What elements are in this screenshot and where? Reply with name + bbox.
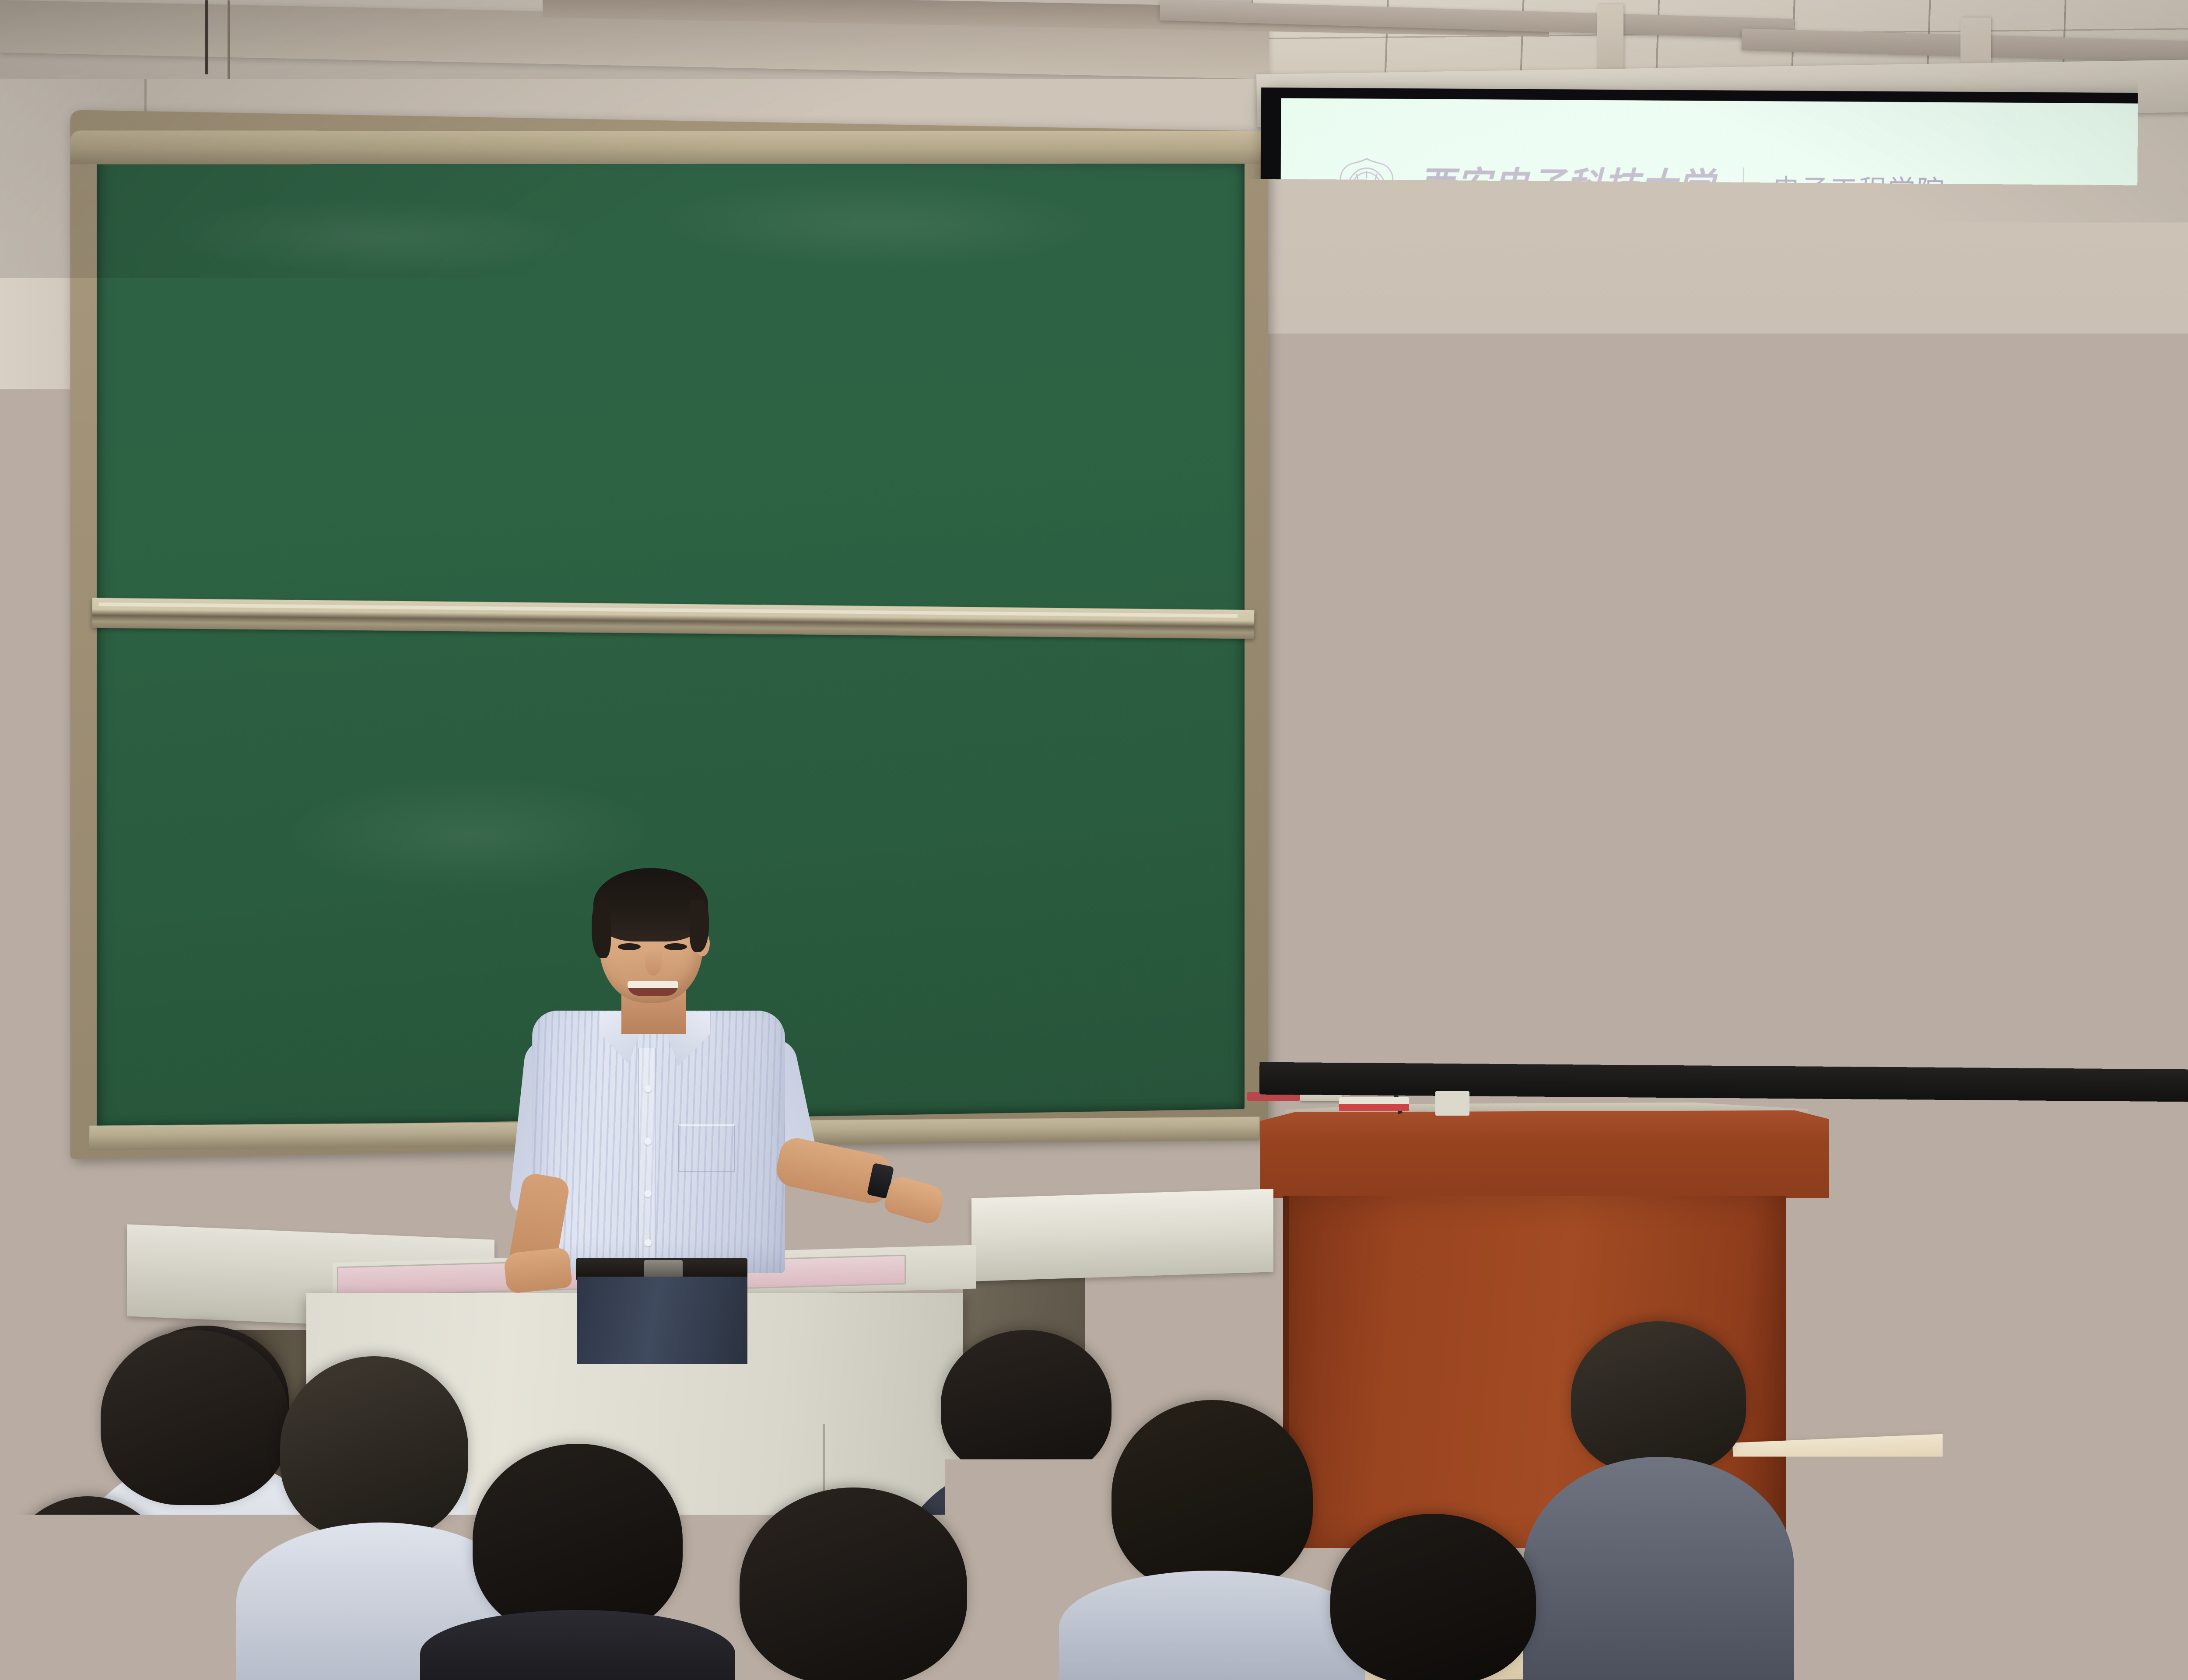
chalk-smudge bbox=[168, 195, 586, 277]
logo-divider bbox=[1743, 168, 1744, 233]
audience-head bbox=[1925, 1549, 2135, 1680]
presenter-mouth bbox=[628, 981, 678, 996]
slide-decorative-bars bbox=[1308, 680, 1496, 832]
ceiling-conduit bbox=[205, 0, 208, 74]
lectern-top bbox=[1260, 1110, 1829, 1198]
shirt-button bbox=[644, 1239, 652, 1246]
presenter-teeth bbox=[628, 981, 678, 988]
audience-head bbox=[1737, 1501, 1947, 1680]
audience-head bbox=[101, 1330, 289, 1505]
belt-buckle bbox=[644, 1260, 683, 1278]
presenter bbox=[490, 857, 967, 1295]
school-name-block: 电子工程学院 School of Electronic Engineering bbox=[1772, 176, 1960, 226]
chalk-smudge bbox=[655, 176, 1104, 271]
bottle-cap bbox=[1427, 1498, 1462, 1511]
decor-bar bbox=[1308, 745, 1485, 767]
audience-head bbox=[0, 1496, 175, 1680]
presenter-eye bbox=[618, 943, 641, 950]
presenter-trousers bbox=[577, 1277, 747, 1364]
audience-head bbox=[1112, 1400, 1313, 1592]
slide-date: 2017年5月26日 bbox=[1690, 778, 1985, 841]
xidian-university-crest-icon bbox=[1329, 156, 1404, 238]
shirt-placket bbox=[638, 1048, 656, 1267]
classroom-photo: ThreeStars bbox=[0, 0, 2188, 1680]
slide-logo-row: 西安电子科技大学 XIDIAN UNIVERSITY 电子工程学院 School… bbox=[1329, 156, 1960, 243]
shirt-button bbox=[644, 1137, 652, 1145]
audience-head bbox=[1571, 1321, 1746, 1474]
slide-light-streak bbox=[2178, 254, 2188, 279]
shirt-pocket bbox=[678, 1124, 735, 1172]
presenter-shirt bbox=[532, 1011, 785, 1273]
audience-head bbox=[280, 1356, 468, 1540]
decor-bar bbox=[1308, 680, 1475, 702]
presenter-hair-side bbox=[592, 901, 611, 958]
decor-bar bbox=[1308, 810, 1496, 833]
lectern-item-red[interactable] bbox=[1339, 1097, 1409, 1111]
university-name-cn: 西安电子科技大学 bbox=[1418, 167, 1715, 205]
ceiling-beam-drop bbox=[1597, 4, 1623, 79]
decor-bar bbox=[1308, 778, 1490, 800]
presenter-left-hand bbox=[503, 1247, 573, 1294]
chalkboard-top-frame bbox=[70, 130, 1268, 164]
presenter-hair-side bbox=[690, 899, 709, 952]
decor-bar bbox=[1308, 713, 1480, 735]
shirt-button bbox=[644, 1085, 652, 1092]
school-name-en: School of Electronic Engineering bbox=[1772, 210, 1960, 226]
audience-head bbox=[473, 1444, 683, 1636]
presenter-nose bbox=[645, 950, 662, 976]
projected-slide: 西安电子科技大学 XIDIAN UNIVERSITY 电子工程学院 School… bbox=[1275, 98, 2188, 1099]
console-right-wing bbox=[971, 1189, 1273, 1281]
university-name-en: XIDIAN UNIVERSITY bbox=[1418, 208, 1644, 230]
university-name-block: 西安电子科技大学 XIDIAN UNIVERSITY bbox=[1418, 167, 1715, 231]
audience-head bbox=[1330, 1514, 1536, 1680]
audience-head bbox=[941, 1330, 1112, 1479]
audience-shoulder bbox=[1059, 1571, 1365, 1680]
school-name-cn: 电子工程学院 bbox=[1772, 176, 1946, 205]
audience-head bbox=[740, 1487, 967, 1680]
presenter-right-hand bbox=[883, 1174, 947, 1226]
slide-main-title: 师德建设动员会 bbox=[1278, 516, 2188, 642]
lectern-item-white[interactable] bbox=[1435, 1091, 1469, 1116]
presenter-eye bbox=[664, 943, 687, 950]
projection-screen[interactable]: 西安电子科技大学 XIDIAN UNIVERSITY 电子工程学院 School… bbox=[1255, 87, 2188, 1120]
shirt-button bbox=[644, 1190, 652, 1197]
slide-heading: 电子工程学院 bbox=[1586, 407, 2023, 478]
